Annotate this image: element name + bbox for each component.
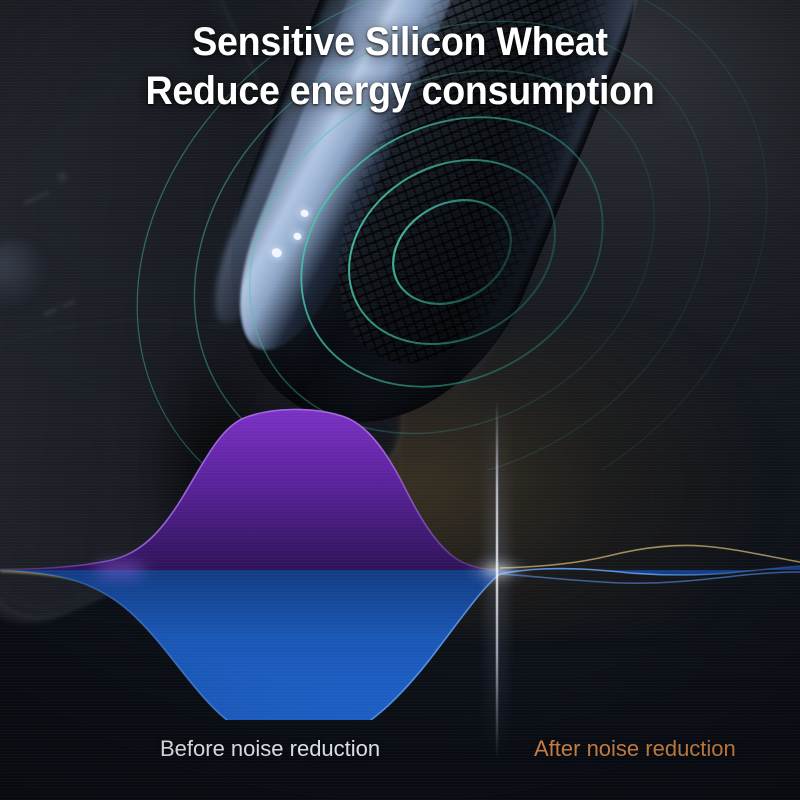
headline: Sensitive Silicon Wheat Reduce energy co… <box>24 18 776 116</box>
wave-residual-gold <box>500 545 800 568</box>
headline-line-1: Sensitive Silicon Wheat <box>24 18 776 67</box>
promo-banner: ▣ ▬▬ ▬▫▬ <box>0 0 800 800</box>
wave-crossing-flare <box>94 561 146 579</box>
headline-line-2: Reduce energy consumption <box>24 67 776 116</box>
label-after-noise-reduction: After noise reduction <box>534 736 736 762</box>
noise-reduction-waveform <box>0 320 800 720</box>
wave-blue-lobe <box>0 566 800 720</box>
waveform-legend: Before noise reduction After noise reduc… <box>0 736 800 770</box>
label-before-noise-reduction: Before noise reduction <box>160 736 380 762</box>
beam-cross-flare <box>455 548 541 592</box>
